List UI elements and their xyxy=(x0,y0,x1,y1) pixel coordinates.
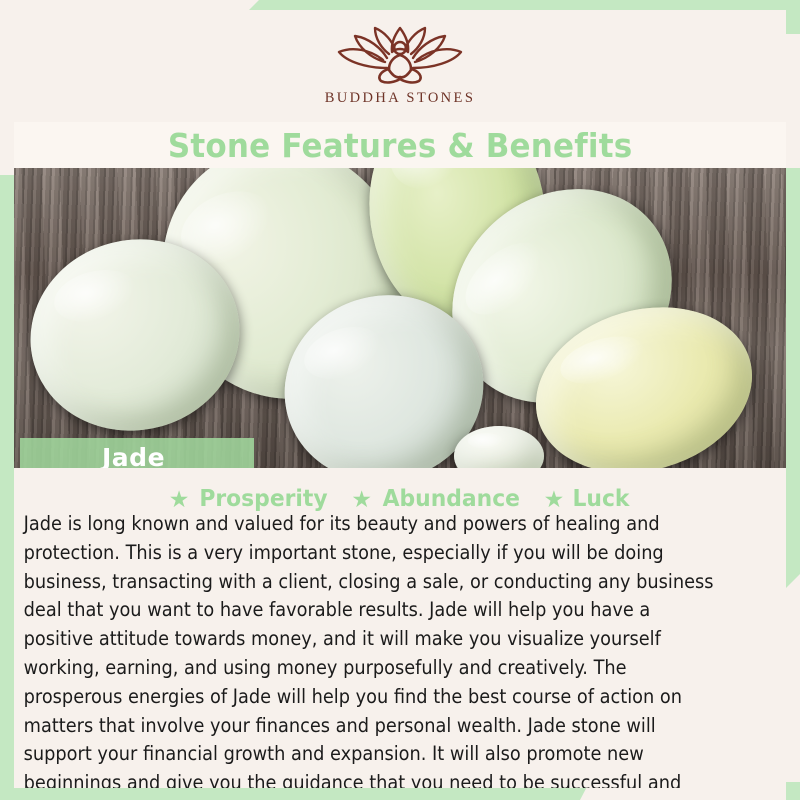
star-icon: ★ xyxy=(351,488,372,511)
keyword-item-abundance: ★ Abundance xyxy=(351,486,523,512)
page-title: Stone Features & Benefits xyxy=(168,126,633,165)
keyword-label: Prosperity xyxy=(200,486,328,512)
stone-name-label: Jade xyxy=(102,443,165,469)
poster-root: BUDDHA STONES Stone Features & Benefits … xyxy=(0,0,800,800)
keyword-label: Luck xyxy=(573,486,630,512)
body-paragraph: Jade is long known and valued for its be… xyxy=(20,510,721,788)
keyword-item-luck: ★ Luck xyxy=(544,486,632,512)
stone-photo: Jade xyxy=(14,168,786,468)
decor-left-strip xyxy=(0,175,14,800)
keyword-label: Abundance xyxy=(383,486,520,512)
decor-bottom-right-tip xyxy=(786,782,800,800)
decor-right-strip xyxy=(786,168,800,588)
brand-name: BUDDHA STONES xyxy=(325,90,476,107)
title-banner: Stone Features & Benefits xyxy=(14,122,786,168)
stone-name-band: Jade xyxy=(20,438,254,468)
keyword-item-prosperity: ★ Prosperity xyxy=(169,486,332,512)
star-icon: ★ xyxy=(169,488,190,511)
lotus-meditation-icon xyxy=(325,24,475,86)
brand-header: BUDDHA STONES xyxy=(14,10,786,122)
star-icon: ★ xyxy=(544,488,565,511)
content-card: BUDDHA STONES Stone Features & Benefits … xyxy=(14,10,786,788)
